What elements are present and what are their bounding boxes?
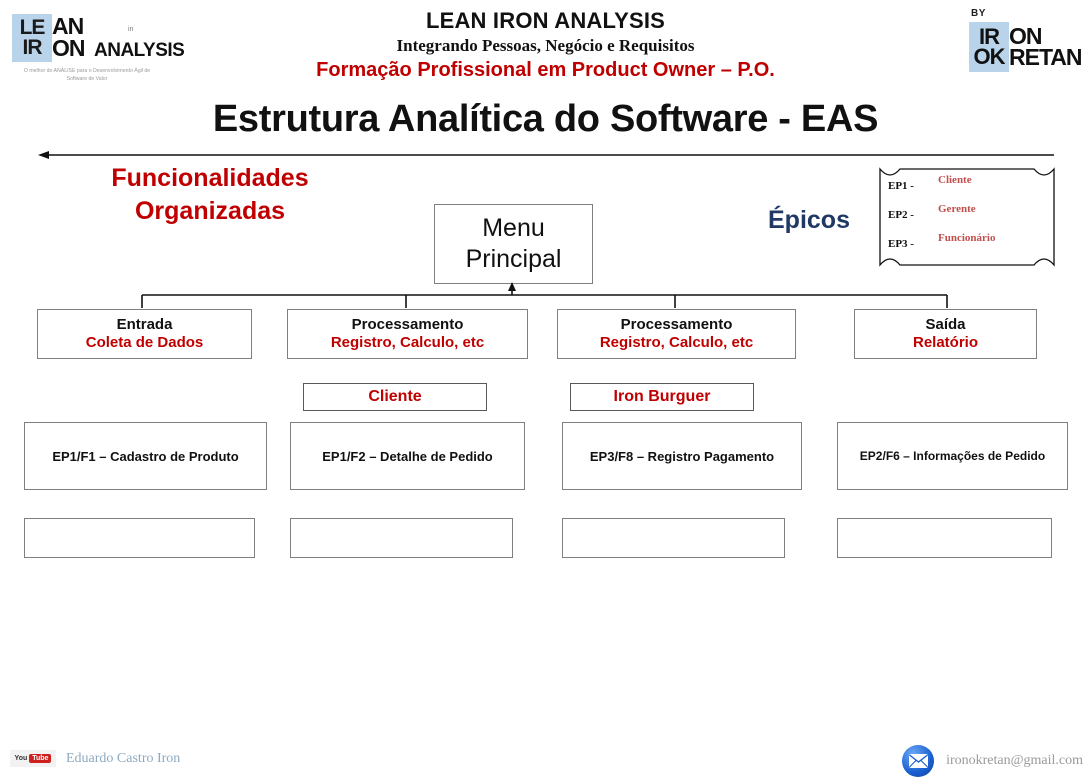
youtube-you-text: You <box>15 755 28 762</box>
email-address: ironokretan@gmail.com <box>946 753 1083 769</box>
empty-slot-4[interactable] <box>837 518 1052 558</box>
tag-box-cliente[interactable]: Cliente <box>303 383 487 411</box>
epico-role: Cliente <box>938 175 995 204</box>
level-box-saida[interactable]: Saída Relatório <box>854 309 1037 359</box>
footer-youtube-credit[interactable]: You Tube Eduardo Castro Iron <box>10 750 180 767</box>
level-box-subtitle: Registro, Calculo, etc <box>600 334 753 352</box>
level-box-title: Entrada <box>117 316 173 334</box>
youtube-tube-text: Tube <box>29 754 51 763</box>
author-name: Eduardo Castro Iron <box>66 751 180 767</box>
epico-role: Funcionário <box>938 233 995 262</box>
epicos-id-column: EP1 - EP2 - EP3 - <box>888 181 914 268</box>
func-label-line2: Organizadas <box>60 195 360 228</box>
empty-slot-1[interactable] <box>24 518 255 558</box>
menu-principal-line2: Principal <box>466 244 562 275</box>
feature-box-ep2-f6[interactable]: EP2/F6 – Informações de Pedido <box>837 422 1068 490</box>
header-title: LEAN IRON ANALYSIS <box>0 8 1091 34</box>
tag-box-iron-burguer[interactable]: Iron Burguer <box>570 383 754 411</box>
epico-role: Gerente <box>938 204 995 233</box>
feature-box-ep1-f2[interactable]: EP1/F2 – Detalhe de Pedido <box>290 422 525 490</box>
feature-box-ep3-f8[interactable]: EP3/F8 – Registro Pagamento <box>562 422 802 490</box>
level-box-title: Saída <box>925 316 965 334</box>
page-title: Estrutura Analítica do Software - EAS <box>0 98 1091 141</box>
level-box-subtitle: Relatório <box>913 334 978 352</box>
tree-connector-lines <box>0 282 1091 308</box>
empty-slot-3[interactable] <box>562 518 785 558</box>
level-box-entrada[interactable]: Entrada Coleta de Dados <box>37 309 252 359</box>
epico-id: EP1 - <box>888 181 914 210</box>
footer-email-credit[interactable]: ironokretan@gmail.com <box>902 745 1083 777</box>
epico-id: EP2 - <box>888 210 914 239</box>
func-label-line1: Funcionalidades <box>60 162 360 195</box>
epicos-list-box: EP1 - EP2 - EP3 - Cliente Gerente Funcio… <box>876 165 1058 269</box>
feature-box-ep1-f1[interactable]: EP1/F1 – Cadastro de Produto <box>24 422 267 490</box>
level-box-subtitle: Registro, Calculo, etc <box>331 334 484 352</box>
epicos-label: Épicos <box>768 206 850 235</box>
level-box-title: Processamento <box>352 316 464 334</box>
header-course-line: Formação Profissional em Product Owner –… <box>0 59 1091 82</box>
menu-principal-line1: Menu <box>482 213 545 244</box>
epicos-role-column: Cliente Gerente Funcionário <box>938 175 995 262</box>
header-subtitle: Integrando Pessoas, Negócio e Requisitos <box>0 36 1091 56</box>
youtube-icon[interactable]: You Tube <box>10 750 56 767</box>
funcionalidades-organizadas-label: Funcionalidades Organizadas <box>60 162 360 227</box>
level-box-title: Processamento <box>621 316 733 334</box>
email-icon[interactable] <box>902 745 934 777</box>
level-box-subtitle: Coleta de Dados <box>86 334 204 352</box>
level-box-processamento-1[interactable]: Processamento Registro, Calculo, etc <box>287 309 528 359</box>
menu-principal-box[interactable]: Menu Principal <box>434 204 593 284</box>
epico-id: EP3 - <box>888 239 914 268</box>
level-box-processamento-2[interactable]: Processamento Registro, Calculo, etc <box>557 309 796 359</box>
empty-slot-2[interactable] <box>290 518 513 558</box>
